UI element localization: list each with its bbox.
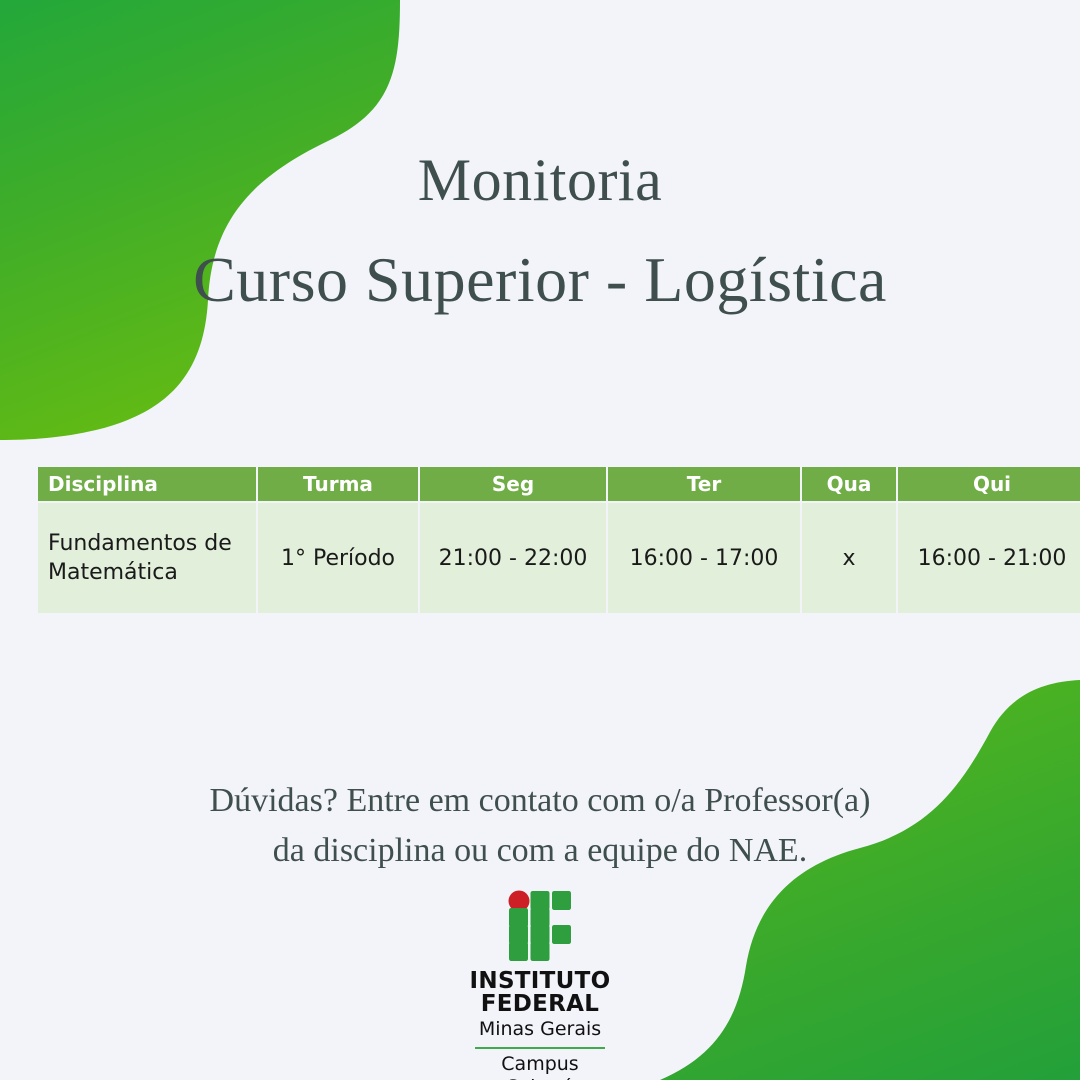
contact-note-line-1: Dúvidas? Entre em contato com o/a Profes… <box>0 776 1080 826</box>
cell-ter: 16:00 - 17:00 <box>608 503 800 613</box>
cell-qui: 16:00 - 21:00 <box>898 503 1080 613</box>
cell-turma: 1° Período <box>258 503 418 613</box>
page-subtitle: Curso Superior - Logística <box>0 248 1080 312</box>
cell-disciplina: Fundamentos de Matemática <box>38 503 256 613</box>
schedule-table-head: Disciplina Turma Seg Ter Qua Qui Sex <box>38 467 1080 501</box>
if-logo: INSTITUTO FEDERAL Minas Gerais Campus Sa… <box>440 890 640 1080</box>
cell-seg: 21:00 - 22:00 <box>420 503 606 613</box>
contact-note: Dúvidas? Entre em contato com o/a Profes… <box>0 776 1080 877</box>
contact-note-line-2: da disciplina ou com a equipe do NAE. <box>0 826 1080 876</box>
page-title: Monitoria <box>0 150 1080 210</box>
logo-text-estado: Minas Gerais <box>440 1018 640 1042</box>
logo-text-campus-name: Sabará <box>440 1076 640 1080</box>
logo-text-campus-label: Campus <box>440 1053 640 1077</box>
schedule-header-row: Disciplina Turma Seg Ter Qua Qui Sex <box>38 467 1080 501</box>
poster-canvas: Monitoria Curso Superior - Logística Dis… <box>0 0 1080 1080</box>
decorative-wave-bottom-right <box>660 680 1080 1080</box>
column-header-ter: Ter <box>608 467 800 501</box>
table-row: Fundamentos de Matemática 1° Período 21:… <box>38 503 1080 613</box>
page-title-block: Monitoria Curso Superior - Logística <box>0 150 1080 312</box>
cell-qua: x <box>802 503 896 613</box>
column-header-qui: Qui <box>898 467 1080 501</box>
schedule-table-wrapper: Disciplina Turma Seg Ter Qua Qui Sex Fun… <box>36 465 1044 615</box>
column-header-disciplina: Disciplina <box>38 467 256 501</box>
logo-divider <box>475 1047 605 1049</box>
column-header-turma: Turma <box>258 467 418 501</box>
logo-text-federal: FEDERAL <box>440 993 640 1016</box>
column-header-seg: Seg <box>420 467 606 501</box>
schedule-table-body: Fundamentos de Matemática 1° Período 21:… <box>38 503 1080 613</box>
logo-text-instituto: INSTITUTO <box>440 970 640 993</box>
if-logo-mark-icon <box>508 890 572 962</box>
schedule-table: Disciplina Turma Seg Ter Qua Qui Sex Fun… <box>36 465 1080 615</box>
column-header-qua: Qua <box>802 467 896 501</box>
